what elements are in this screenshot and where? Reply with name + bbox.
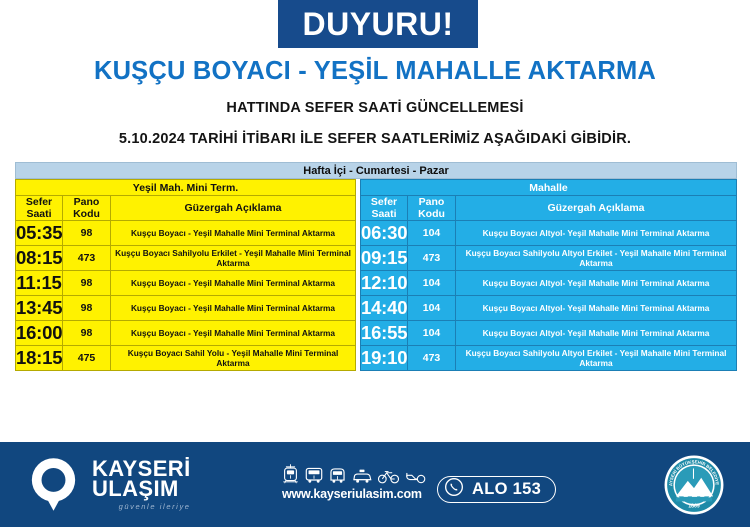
column-header-pano-kodu: Pano Kodu bbox=[408, 196, 456, 221]
brand-line-2: ULAŞIM bbox=[92, 479, 191, 500]
column-header-guzergah-aciklama: Güzergah Açıklama bbox=[456, 196, 737, 221]
table-row: 05:35 98 Kuşçu Boyacı - Yeşil Mahalle Mi… bbox=[16, 221, 356, 246]
cell-departure-time: 16:00 bbox=[16, 321, 63, 346]
cell-departure-time: 06:30 bbox=[361, 221, 408, 246]
column-header-pano-kodu: Pano Kodu bbox=[63, 196, 111, 221]
table-group-header-row: Yeşil Mah. Mini Term. bbox=[16, 180, 356, 196]
table-row: 12:10 104 Kuşçu Boyacı Altyol- Yeşil Mah… bbox=[361, 271, 737, 296]
cell-route-description: Kuşçu Boyacı Sahilyolu Erkilet - Yeşil M… bbox=[111, 246, 356, 271]
cell-panel-code: 104 bbox=[408, 221, 456, 246]
cell-panel-code: 98 bbox=[63, 321, 111, 346]
subtitle-effective-date: 5.10.2024 TARİHİ İTİBARI İLE SEFER SAATL… bbox=[0, 131, 750, 147]
column-header-sefer-saati: Sefer Saati bbox=[16, 196, 63, 221]
scooter-icon bbox=[405, 469, 426, 484]
bus-icon bbox=[305, 467, 323, 484]
seal-year: 1869 bbox=[688, 504, 700, 510]
cell-departure-time: 13:45 bbox=[16, 296, 63, 321]
cell-departure-time: 12:10 bbox=[361, 271, 408, 296]
cell-route-description: Kuşçu Boyacı Sahil Yolu - Yeşil Mahalle … bbox=[111, 346, 356, 371]
phone-icon bbox=[444, 477, 464, 502]
subtitle-primary: HATTINDA SEFER SAATİ GÜNCELLEMESİ bbox=[0, 100, 750, 116]
cell-panel-code: 98 bbox=[63, 271, 111, 296]
column-header-guzergah-aciklama: Güzergah Açıklama bbox=[111, 196, 356, 221]
website-url[interactable]: www.kayseriulasim.com bbox=[282, 487, 422, 501]
group-header-label: Yeşil Mah. Mini Term. bbox=[16, 180, 356, 196]
cell-departure-time: 09:15 bbox=[361, 246, 408, 271]
cell-panel-code: 98 bbox=[63, 221, 111, 246]
cell-departure-time: 08:15 bbox=[16, 246, 63, 271]
schedule-table-mahalle: Mahalle Sefer Saati Pano Kodu Güzergah A… bbox=[360, 179, 737, 371]
page-title: KUŞÇU BOYACI - YEŞİL MAHALLE AKTARMA bbox=[0, 57, 750, 86]
table-row: 16:00 98 Kuşçu Boyacı - Yeşil Mahalle Mi… bbox=[16, 321, 356, 346]
group-header-label: Mahalle bbox=[361, 180, 737, 196]
brand-tagline: güvenle ileriye bbox=[92, 503, 191, 510]
taxi-icon bbox=[352, 469, 372, 484]
hotline-label: ALO 153 bbox=[472, 480, 541, 499]
table-row: 16:55 104 Kuşçu Boyacı Altyol- Yeşil Mah… bbox=[361, 321, 737, 346]
cell-departure-time: 14:40 bbox=[361, 296, 408, 321]
table-row: 09:15 473 Kuşçu Boyacı Sahilyolu Altyol … bbox=[361, 246, 737, 271]
cell-departure-time: 16:55 bbox=[361, 321, 408, 346]
schedule-table-yesil-mah-mini-term: Yeşil Mah. Mini Term. Sefer Saati Pano K… bbox=[15, 179, 356, 371]
table-row: 18:15 475 Kuşçu Boyacı Sahil Yolu - Yeşi… bbox=[16, 346, 356, 371]
brand-logo: KAYSERİ ULAŞIM güvenle ileriye bbox=[25, 456, 191, 513]
cell-departure-time: 11:15 bbox=[16, 271, 63, 296]
table-group-header-row: Mahalle bbox=[361, 180, 737, 196]
cell-route-description: Kuşçu Boyacı - Yeşil Mahalle Mini Termin… bbox=[111, 221, 356, 246]
transport-mode-icon-row bbox=[282, 464, 426, 484]
table-row: 06:30 104 Kuşçu Boyacı Altyol- Yeşil Mah… bbox=[361, 221, 737, 246]
table-row: 14:40 104 Kuşçu Boyacı Altyol- Yeşil Mah… bbox=[361, 296, 737, 321]
hotline-button[interactable]: ALO 153 bbox=[437, 476, 556, 503]
minibus-icon bbox=[329, 467, 346, 484]
kayseri-ulasim-pin-icon bbox=[25, 456, 82, 513]
schedule-period-label: Hafta İçi - Cumartesi - Pazar bbox=[303, 165, 449, 177]
cell-route-description: Kuşçu Boyacı - Yeşil Mahalle Mini Termin… bbox=[111, 321, 356, 346]
cell-departure-time: 05:35 bbox=[16, 221, 63, 246]
table-row: 19:10 473 Kuşçu Boyacı Sahilyolu Altyol … bbox=[361, 346, 737, 371]
transport-modes-and-website: www.kayseriulasim.com bbox=[282, 464, 426, 501]
cell-route-description: Kuşçu Boyacı - Yeşil Mahalle Mini Termin… bbox=[111, 296, 356, 321]
cell-panel-code: 104 bbox=[408, 321, 456, 346]
cell-panel-code: 98 bbox=[63, 296, 111, 321]
cell-panel-code: 473 bbox=[408, 346, 456, 371]
cell-route-description: Kuşçu Boyacı Sahilyolu Altyol Erkilet - … bbox=[456, 346, 737, 371]
cell-route-description: Kuşçu Boyacı Altyol- Yeşil Mahalle Mini … bbox=[456, 271, 737, 296]
table-row: 13:45 98 Kuşçu Boyacı - Yeşil Mahalle Mi… bbox=[16, 296, 356, 321]
cell-route-description: Kuşçu Boyacı Altyol- Yeşil Mahalle Mini … bbox=[456, 296, 737, 321]
tram-icon bbox=[282, 464, 299, 484]
cell-panel-code: 473 bbox=[408, 246, 456, 271]
table-column-header-row: Sefer Saati Pano Kodu Güzergah Açıklama bbox=[16, 196, 356, 221]
municipality-seal: KAYSERİ BÜYÜKŞEHİR BELEDİYESİ 1869 bbox=[663, 454, 725, 516]
footer-bar: KAYSERİ ULAŞIM güvenle ileriye bbox=[0, 442, 750, 527]
table-row: 08:15 473 Kuşçu Boyacı Sahilyolu Erkilet… bbox=[16, 246, 356, 271]
table-column-header-row: Sefer Saati Pano Kodu Güzergah Açıklama bbox=[361, 196, 737, 221]
cell-route-description: Kuşçu Boyacı Altyol- Yeşil Mahalle Mini … bbox=[456, 221, 737, 246]
cell-departure-time: 18:15 bbox=[16, 346, 63, 371]
announcement-banner-label: DUYURU! bbox=[302, 8, 453, 40]
cell-panel-code: 104 bbox=[408, 271, 456, 296]
bicycle-icon bbox=[378, 469, 399, 484]
cell-panel-code: 473 bbox=[63, 246, 111, 271]
cell-panel-code: 104 bbox=[408, 296, 456, 321]
table-row: 11:15 98 Kuşçu Boyacı - Yeşil Mahalle Mi… bbox=[16, 271, 356, 296]
cell-panel-code: 475 bbox=[63, 346, 111, 371]
cell-route-description: Kuşçu Boyacı Altyol- Yeşil Mahalle Mini … bbox=[456, 321, 737, 346]
announcement-banner: DUYURU! bbox=[278, 0, 478, 48]
cell-departure-time: 19:10 bbox=[361, 346, 408, 371]
cell-route-description: Kuşçu Boyacı Sahilyolu Altyol Erkilet - … bbox=[456, 246, 737, 271]
column-header-sefer-saati: Sefer Saati bbox=[361, 196, 408, 221]
cell-route-description: Kuşçu Boyacı - Yeşil Mahalle Mini Termin… bbox=[111, 271, 356, 296]
schedule-period-bar: Hafta İçi - Cumartesi - Pazar bbox=[15, 162, 737, 179]
brand-wordmark: KAYSERİ ULAŞIM güvenle ileriye bbox=[92, 459, 191, 511]
